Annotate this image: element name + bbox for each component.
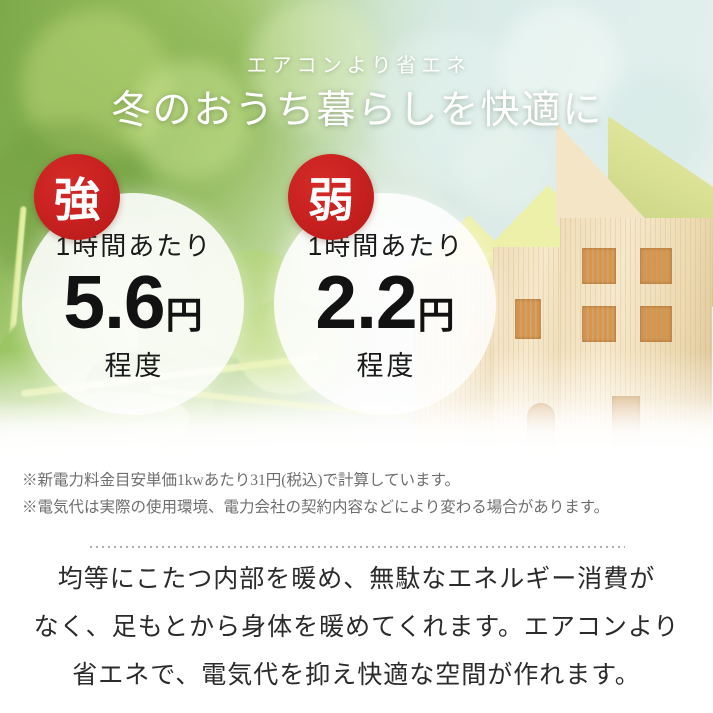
body-line: 省エネで、電気代を抑え快適な空間が作れます。 — [0, 652, 713, 700]
disclaimer-line: ※新電力料金目安単価1kwあたり31円(税込)で計算しています。 — [22, 468, 702, 495]
amount-value: 5.6 — [63, 265, 164, 340]
house-window — [640, 248, 672, 284]
hero-subtitle: エアコンより省エネ — [0, 49, 713, 78]
house-gable — [556, 122, 652, 226]
approx-label: 程度 — [354, 344, 417, 383]
level-badge-strong: 強 — [34, 154, 120, 240]
level-badge-weak: 弱 — [288, 154, 374, 240]
approx-label: 程度 — [102, 344, 165, 383]
amount-row: 5.6 円 — [63, 265, 202, 340]
house-window — [582, 248, 616, 284]
currency-unit: 円 — [418, 297, 455, 334]
body-line: 均等にこたつ内部を暖め、無駄なエネルギー消費が — [0, 556, 713, 604]
disclaimer-line: ※電気代は実際の使用環境、電力会社の契約内容などにより変わる場合があります。 — [22, 495, 702, 522]
house-window — [640, 306, 672, 342]
body-paragraph: 均等にこたつ内部を暖め、無駄なエネルギー消費が なく、足もとから身体を暖めてくれ… — [0, 556, 713, 700]
amount-value: 2.2 — [315, 265, 416, 340]
house-window — [582, 306, 616, 342]
house-window — [515, 299, 541, 339]
disclaimer-notes: ※新電力料金目安単価1kwあたり31円(税込)で計算しています。 ※電気代は実際… — [22, 468, 702, 521]
product-infographic: エアコンより省エネ 冬のおうち暮らしを快適に 1時間あたり 5.6 円 程度 強… — [0, 0, 713, 713]
hero-headline: 冬のおうち暮らしを快適に — [0, 79, 713, 135]
amount-row: 2.2 円 — [315, 265, 454, 340]
dotted-divider — [88, 546, 625, 548]
currency-unit: 円 — [166, 297, 203, 334]
body-line: なく、足もとから身体を暖めてくれます。エアコンより — [0, 604, 713, 652]
